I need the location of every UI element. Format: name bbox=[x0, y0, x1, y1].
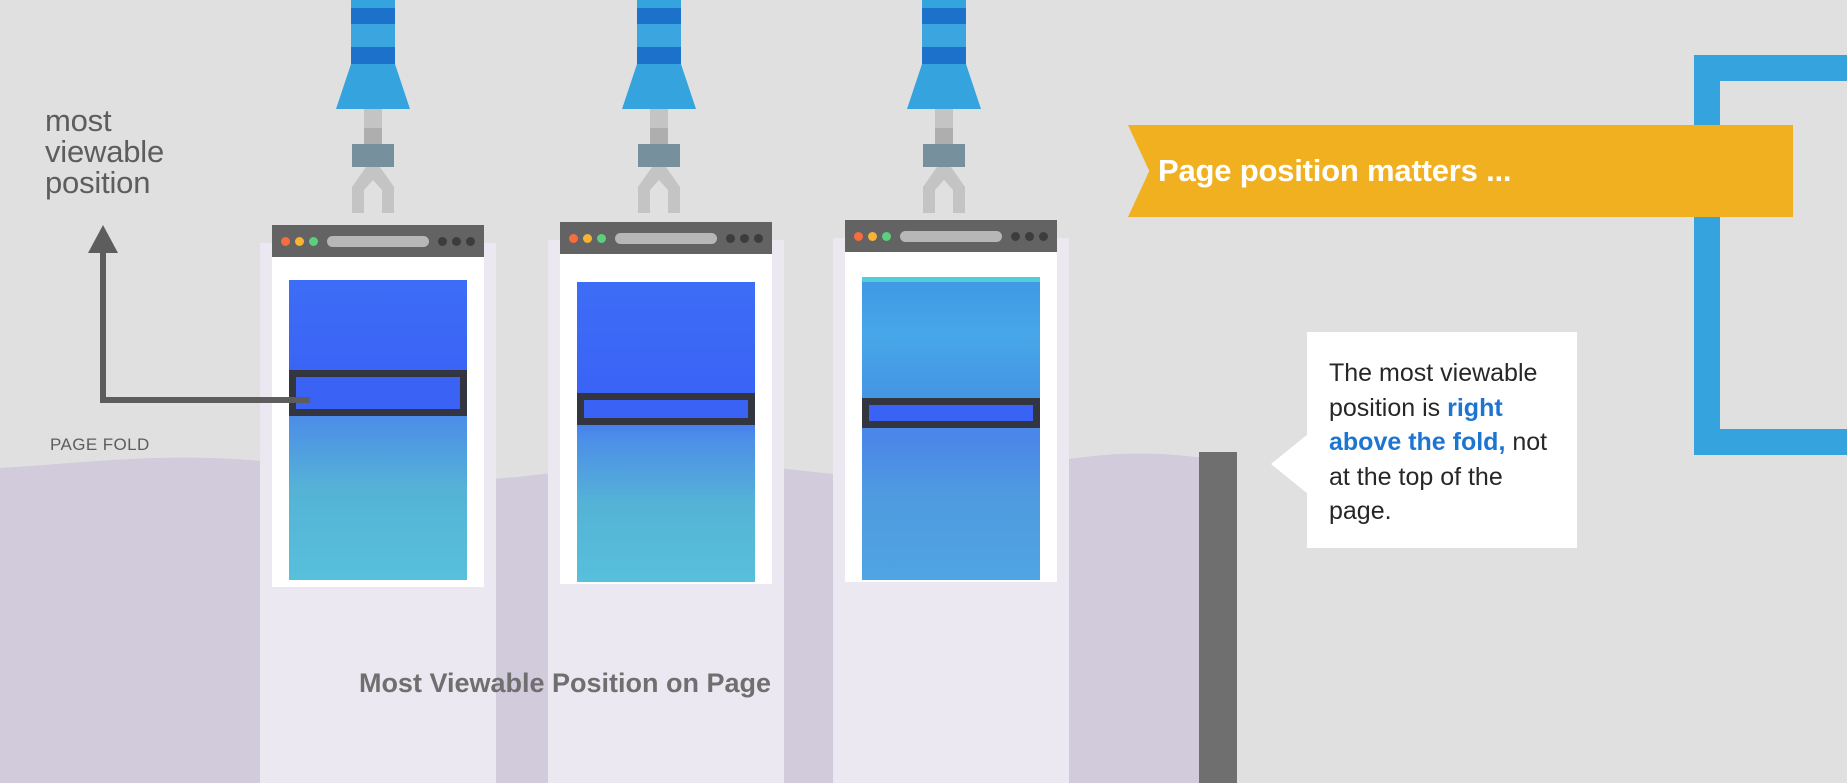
menu-dot-icon[interactable] bbox=[452, 237, 461, 246]
close-dot-icon[interactable] bbox=[569, 234, 578, 243]
callout-text: The most viewable position is right abov… bbox=[1329, 356, 1559, 529]
banner-ribbon: Page position matters ... bbox=[1128, 125, 1793, 217]
page-fold-label: PAGE FOLD bbox=[50, 435, 150, 455]
callout-part-1: The most viewable position is bbox=[1329, 359, 1537, 422]
callout-pointer-icon bbox=[1271, 434, 1308, 494]
maximize-dot-icon[interactable] bbox=[882, 232, 891, 241]
menu-dot-icon[interactable] bbox=[438, 237, 447, 246]
browser-card-3 bbox=[845, 220, 1057, 582]
menu-dot-icon[interactable] bbox=[754, 234, 763, 243]
menu-dot-icon[interactable] bbox=[466, 237, 475, 246]
banner-text: Page position matters ... bbox=[1158, 125, 1511, 217]
address-bar-3[interactable] bbox=[900, 231, 1002, 242]
callout-box: The most viewable position is right abov… bbox=[1307, 332, 1577, 548]
maximize-dot-icon[interactable] bbox=[309, 237, 318, 246]
minimize-dot-icon[interactable] bbox=[868, 232, 877, 241]
browser-viewport-2 bbox=[560, 254, 772, 584]
window-controls-3 bbox=[854, 232, 891, 241]
infographic-canvas: 300 x 250 728 bbox=[0, 0, 1847, 783]
decorative-frame-left bbox=[1694, 55, 1720, 455]
label-line-2: viewable bbox=[45, 136, 265, 167]
most-viewable-position-label: most viewable position bbox=[45, 105, 265, 198]
ad-slot-320x50[interactable] bbox=[862, 398, 1040, 428]
browser-titlebar-2 bbox=[560, 222, 772, 254]
toolbar-dots-2 bbox=[726, 234, 763, 243]
crane-arm-2 bbox=[594, 0, 724, 238]
menu-dot-icon[interactable] bbox=[1039, 232, 1048, 241]
menu-dot-icon[interactable] bbox=[726, 234, 735, 243]
browser-mockup-3: 320 x 50 bbox=[845, 220, 1057, 582]
toolbar-dots-3 bbox=[1011, 232, 1048, 241]
page-content-1 bbox=[289, 280, 467, 580]
annotation-arrow bbox=[70, 225, 310, 415]
toolbar-dots-1 bbox=[438, 237, 475, 246]
maximize-dot-icon[interactable] bbox=[597, 234, 606, 243]
page-edge-bar bbox=[1199, 452, 1237, 783]
crane-arm-1 bbox=[308, 0, 438, 238]
browser-mockup-2: 728 x 90 bbox=[560, 222, 772, 584]
close-dot-icon[interactable] bbox=[854, 232, 863, 241]
label-line-1: most bbox=[45, 105, 265, 136]
page-content-2 bbox=[577, 282, 755, 582]
menu-dot-icon[interactable] bbox=[740, 234, 749, 243]
minimize-dot-icon[interactable] bbox=[583, 234, 592, 243]
ad-slot-300x250[interactable] bbox=[289, 370, 467, 416]
page-content-3 bbox=[862, 282, 1040, 580]
ad-slot-728x90[interactable] bbox=[577, 393, 755, 425]
decorative-frame-bottom bbox=[1694, 429, 1847, 455]
address-bar-2[interactable] bbox=[615, 233, 717, 244]
page-title: Most Viewable Position on Page bbox=[245, 668, 885, 699]
crane-arm-3 bbox=[879, 0, 1009, 238]
menu-dot-icon[interactable] bbox=[1025, 232, 1034, 241]
browser-titlebar-3 bbox=[845, 220, 1057, 252]
browser-card-2 bbox=[560, 222, 772, 584]
menu-dot-icon[interactable] bbox=[1011, 232, 1020, 241]
address-bar-1[interactable] bbox=[327, 236, 429, 247]
browser-viewport-3 bbox=[845, 252, 1057, 582]
window-controls-2 bbox=[569, 234, 606, 243]
label-line-3: position bbox=[45, 167, 265, 198]
